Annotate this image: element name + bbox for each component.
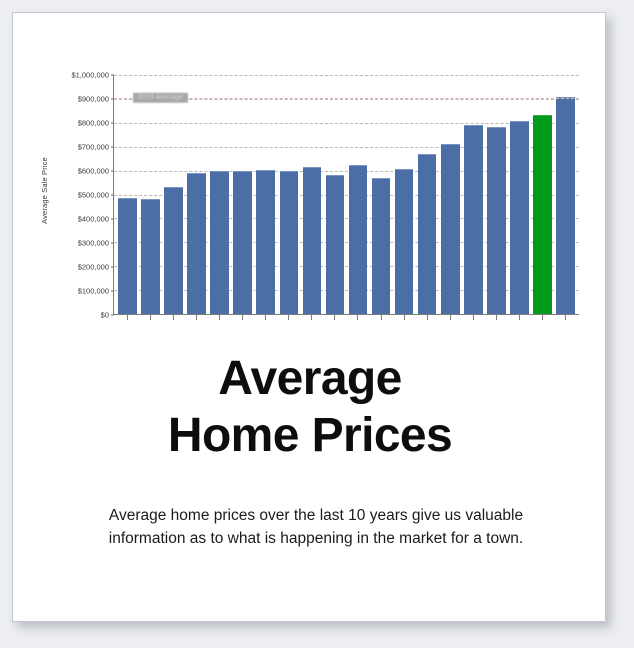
bar (187, 173, 206, 314)
y-axis-tick-label: $700,000 (78, 143, 109, 152)
bar (510, 121, 529, 314)
y-axis-tick-label: $400,000 (78, 215, 109, 224)
x-axis-tick (115, 315, 138, 324)
x-axis-tick (184, 315, 207, 324)
bar (303, 167, 322, 314)
y-axis-tick-label: $1,000,000 (71, 71, 109, 80)
y-axis-title-label: Average Sale Price (40, 157, 49, 224)
page-title: Average Home Prices (53, 351, 567, 464)
x-axis-tick (415, 315, 438, 324)
bar (233, 171, 252, 314)
plot-outer: $0$100,000$200,000$300,000$400,000$500,0… (51, 75, 585, 333)
x-axis-tick (161, 315, 184, 324)
bar (141, 199, 160, 314)
y-axis-tick-label: $300,000 (78, 239, 109, 248)
plot-area: 2019 Average (113, 75, 579, 315)
bar (372, 178, 391, 314)
bar-highlight (533, 115, 552, 314)
x-axis-tick (138, 315, 161, 324)
y-axis-tick-label: $800,000 (78, 119, 109, 128)
x-axis-tick (323, 315, 346, 324)
bar (464, 125, 483, 314)
bar (395, 169, 414, 314)
x-axis-ticks (113, 315, 579, 324)
page-title-line-1: Average (53, 351, 567, 408)
page-title-line-2: Home Prices (53, 408, 567, 465)
y-axis-tick-label: $600,000 (78, 167, 109, 176)
bar (487, 127, 506, 314)
x-axis-tick (554, 315, 577, 324)
x-axis-tick (254, 315, 277, 324)
bar (280, 171, 299, 314)
x-axis-tick (531, 315, 554, 324)
bar (349, 165, 368, 314)
bar (441, 144, 460, 314)
y-axis-tick-label: $0 (101, 311, 109, 320)
x-axis-tick (485, 315, 508, 324)
y-axis-tick-label: $200,000 (78, 263, 109, 272)
y-axis-tick-labels: $0$100,000$200,000$300,000$400,000$500,0… (51, 75, 113, 315)
y-axis-tick-label: $100,000 (78, 287, 109, 296)
bar (210, 171, 229, 314)
x-axis-tick (230, 315, 253, 324)
bar (256, 170, 275, 314)
x-axis-tick (508, 315, 531, 324)
slide-card: Average Sale Price $0$100,000$200,000$30… (12, 12, 606, 622)
body-paragraph: Average home prices over the last 10 yea… (91, 505, 541, 551)
x-axis-tick (392, 315, 415, 324)
bar (326, 175, 345, 314)
reference-line-badge: 2019 Average (133, 92, 188, 103)
x-axis-tick (207, 315, 230, 324)
x-axis-tick (346, 315, 369, 324)
x-axis-tick (438, 315, 461, 324)
bar-series (114, 75, 579, 314)
bar (556, 97, 575, 314)
bar (164, 187, 183, 314)
y-axis-tick-label: $900,000 (78, 95, 109, 104)
x-axis-tick (461, 315, 484, 324)
bar (118, 198, 137, 314)
y-axis-title: Average Sale Price (37, 65, 51, 315)
slide-root: Average Sale Price $0$100,000$200,000$30… (0, 0, 634, 648)
bar-chart: Average Sale Price $0$100,000$200,000$30… (27, 65, 587, 340)
bar (418, 154, 437, 314)
x-axis-tick (277, 315, 300, 324)
x-axis-tick (369, 315, 392, 324)
x-axis-tick (300, 315, 323, 324)
y-axis-tick-label: $500,000 (78, 191, 109, 200)
